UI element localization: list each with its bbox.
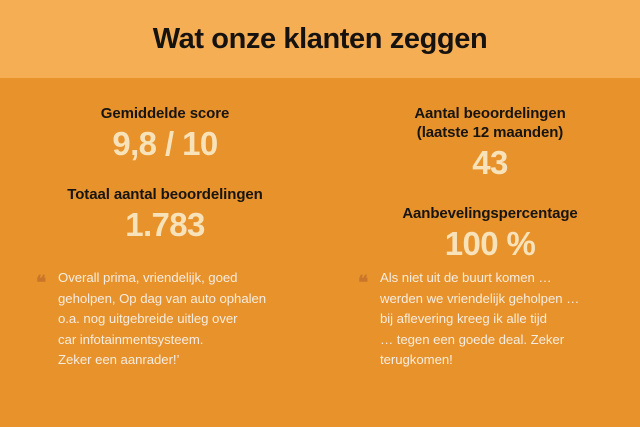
stats-area: Gemiddelde score 9,8 / 10 Totaal aantal … <box>0 78 640 260</box>
quote-text: Als niet uit de buurt komen … werden we … <box>380 268 624 371</box>
testimonial-quotes: ❝ Overall prima, vriendelijk, goed gehol… <box>0 268 640 427</box>
page-title: Wat onze klanten zeggen <box>153 22 488 56</box>
quote-text: Overall prima, vriendelijk, goed geholpe… <box>58 268 304 371</box>
header-band: Wat onze klanten zeggen <box>0 0 640 78</box>
stat-value: 100 % <box>340 224 640 263</box>
stats-column-right: Aantal beoordelingen (laatste 12 maanden… <box>320 78 640 260</box>
stat-total-reviews: Totaal aantal beoordelingen 1.783 <box>10 185 320 244</box>
stat-label: Gemiddelde score <box>10 104 320 123</box>
stat-label: Aanbevelingspercentage <box>340 204 640 223</box>
stat-label: Aantal beoordelingen (laatste 12 maanden… <box>340 104 640 142</box>
stats-column-left: Gemiddelde score 9,8 / 10 Totaal aantal … <box>0 78 320 260</box>
stat-value: 1.783 <box>10 205 320 244</box>
quote-mark-icon: ❝ <box>358 274 368 293</box>
testimonial-poster: Wat onze klanten zeggen Gemiddelde score… <box>0 0 640 427</box>
testimonial-quote-left: ❝ Overall prima, vriendelijk, goed gehol… <box>0 268 320 427</box>
stat-label: Totaal aantal beoordelingen <box>10 185 320 204</box>
stat-value: 43 <box>340 143 640 182</box>
stat-average-score: Gemiddelde score 9,8 / 10 <box>10 104 320 163</box>
stat-reviews-last-12-months: Aantal beoordelingen (laatste 12 maanden… <box>340 104 640 182</box>
stat-value: 9,8 / 10 <box>10 124 320 163</box>
testimonial-quote-right: ❝ Als niet uit de buurt komen … werden w… <box>320 268 640 427</box>
stat-recommendation-percentage: Aanbevelingspercentage 100 % <box>340 204 640 263</box>
quote-mark-icon: ❝ <box>36 274 46 293</box>
